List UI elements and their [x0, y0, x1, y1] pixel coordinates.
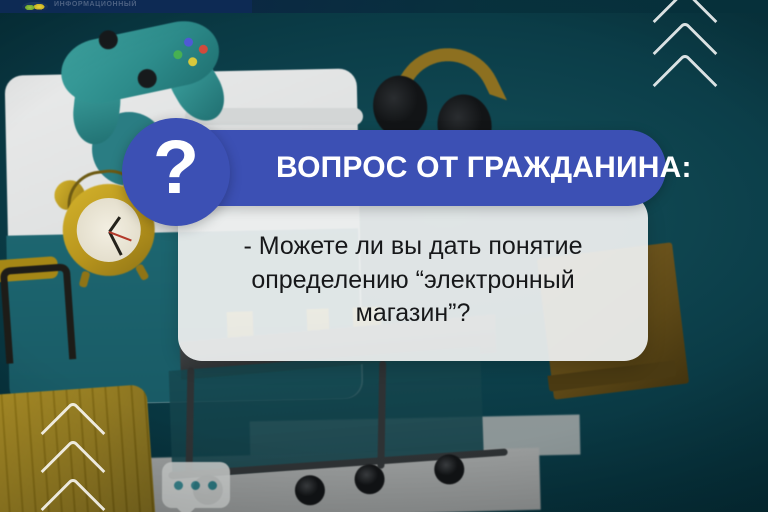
- question-mark-glyph: ?: [153, 130, 199, 206]
- cart-wheel: [294, 475, 325, 506]
- question-body-text: - Можете ли вы дать понятие определению …: [208, 230, 618, 331]
- chevron-group-bottom-left: [44, 402, 154, 512]
- suitcase-handle: [0, 263, 76, 364]
- chevron-up-icon: [40, 476, 105, 512]
- cart-wheel: [434, 454, 465, 485]
- emblem-logo-icon: [22, 2, 48, 12]
- question-header-pill: ВОПРОС ОТ ГРАЖДАНИНА:: [174, 130, 666, 206]
- question-body-panel: - Можете ли вы дать понятие определению …: [178, 194, 648, 361]
- question-header-title: ВОПРОС ОТ ГРАЖДАНИНА:: [276, 151, 692, 185]
- top-banner: ИНФОРМАЦИОННЫЙ: [0, 0, 252, 13]
- cart-wheel: [354, 464, 385, 495]
- chat-dot: [191, 481, 200, 490]
- chat-dot: [208, 481, 217, 490]
- chat-bubble-icon: [162, 462, 230, 508]
- poster-canvas: ИНФОРМАЦИОННЫЙ - Можете ли вы дать понят…: [0, 0, 768, 512]
- chevron-group-top-right: [636, 6, 746, 98]
- question-mark-icon: ?: [122, 118, 230, 226]
- question-card: - Можете ли вы дать понятие определению …: [122, 118, 668, 216]
- chat-dot: [174, 481, 183, 490]
- question-card-header: ВОПРОС ОТ ГРАЖДАНИНА: ?: [122, 118, 668, 216]
- top-banner-title: ИНФОРМАЦИОННЫЙ: [54, 1, 137, 8]
